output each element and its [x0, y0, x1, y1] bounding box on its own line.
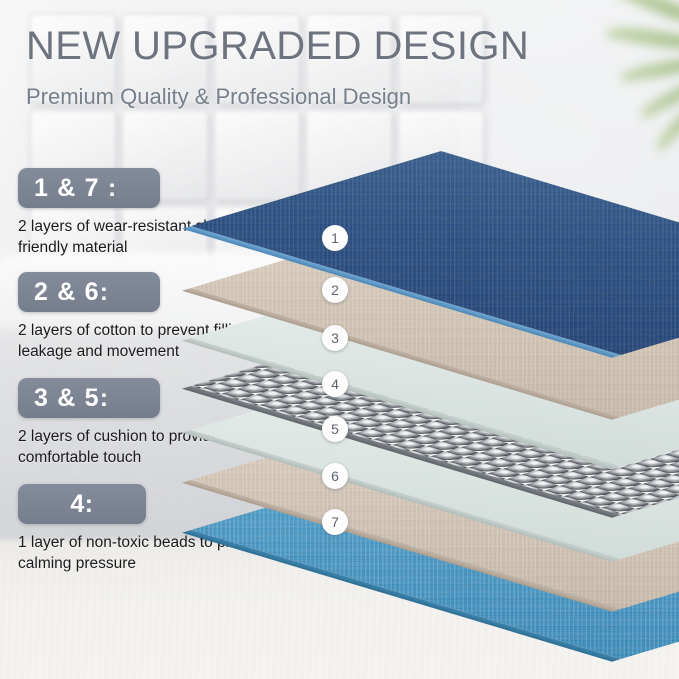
- layer-marker-6: 6: [322, 463, 348, 489]
- layer-marker-4: 4: [322, 371, 348, 397]
- layer-marker-1: 1: [322, 225, 348, 251]
- layer-stack-diagram: 1 2 3 4 5 6 7: [0, 0, 679, 679]
- layer-marker-7: 7: [322, 509, 348, 535]
- infographic-canvas: NEW UPGRADED DESIGN Premium Quality & Pr…: [0, 0, 679, 679]
- layer-marker-3: 3: [322, 325, 348, 351]
- layer-marker-2: 2: [322, 277, 348, 303]
- layer-marker-5: 5: [322, 416, 348, 442]
